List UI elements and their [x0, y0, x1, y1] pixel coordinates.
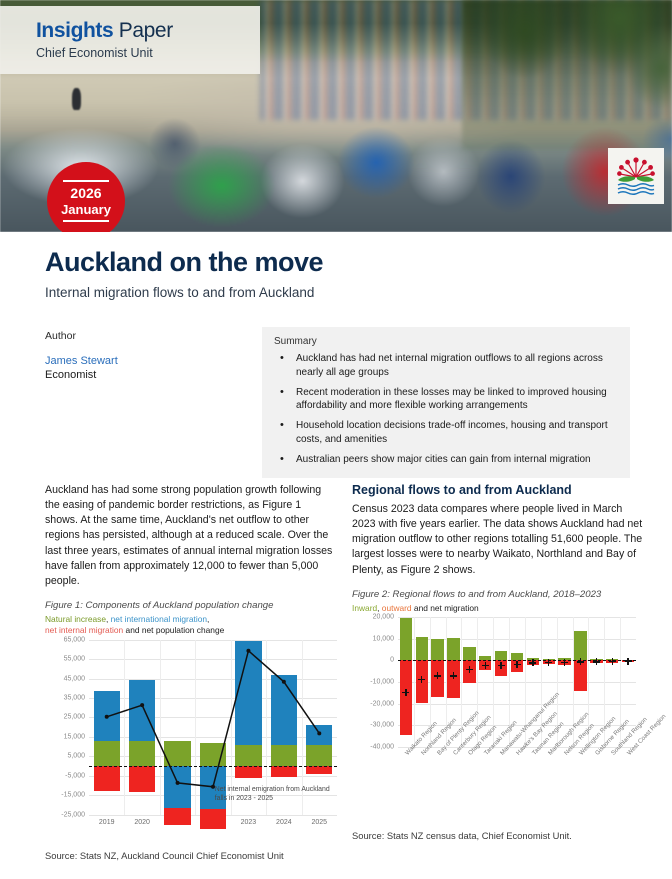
publication-title-light: Paper: [119, 19, 173, 42]
title-area: Auckland on the move Internal migration …: [45, 248, 323, 300]
publication-subtitle: Chief Economist Unit: [36, 46, 260, 60]
bar-segment: [574, 631, 586, 660]
bar-segment: [400, 618, 412, 660]
chart-annotation: Net internal emigration from Auckland fa…: [215, 785, 333, 804]
hero-runner-figure: [72, 88, 81, 110]
legend-net-international-migration: net international migration: [111, 614, 207, 624]
y-axis-tick: 5,000: [67, 753, 85, 760]
y-axis-tick: 20,000: [373, 614, 394, 621]
y-axis-tick: 45,000: [64, 675, 85, 682]
y-axis-tick: 65,000: [64, 636, 85, 643]
publication-banner: Insights Paper Chief Economist Unit: [0, 6, 260, 74]
y-axis-tick: 10,000: [373, 635, 394, 642]
x-axis-tick: 2020: [134, 819, 150, 826]
bar-segment: [431, 639, 443, 660]
hero-banner: Insights Paper Chief Economist Unit 2026…: [0, 0, 672, 232]
y-axis-tick: -40,000: [370, 744, 394, 751]
right-column: Regional flows to and from Auckland Cens…: [352, 483, 644, 841]
summary-box: Summary Auckland has had net internal mi…: [262, 327, 630, 478]
y-axis-tick: 35,000: [64, 695, 85, 702]
legend-inward: Inward: [352, 603, 377, 613]
bar-segment: [400, 660, 412, 735]
legend-net-migration: and net migration: [412, 603, 479, 613]
author-role: Economist: [45, 369, 118, 381]
list-item: Recent moderation in these losses may be…: [274, 386, 618, 414]
y-axis-tick: -25,000: [61, 811, 85, 818]
auckland-council-logo: [608, 148, 664, 204]
left-body-text: Auckland has had some strong population …: [45, 483, 337, 589]
page-title: Auckland on the move: [45, 248, 323, 278]
pohutukawa-logo-icon: [613, 153, 659, 199]
figure1-caption: Figure 1: Components of Auckland populat…: [45, 600, 337, 611]
badge-month: January: [61, 202, 111, 217]
hero-trees-detail: [462, 0, 672, 150]
bar-segment: [463, 647, 475, 661]
author-label: Author: [45, 330, 118, 342]
legend-outward: outward: [382, 603, 412, 613]
publication-title: Insights Paper: [36, 20, 260, 42]
badge-rule-bottom: [63, 220, 109, 222]
bar-segment: [416, 637, 428, 660]
figure1-source: Source: Stats NZ, Auckland Council Chief…: [45, 850, 337, 861]
list-item: Australian peers show major cities can g…: [274, 453, 618, 467]
page-subtitle: Internal migration flows to and from Auc…: [45, 285, 323, 300]
gridline: [398, 704, 636, 705]
section-heading: Regional flows to and from Auckland: [352, 483, 644, 497]
y-axis-tick: 15,000: [64, 733, 85, 740]
figure2-legend: Inward, outward and net migration: [352, 603, 644, 614]
x-axis-tick: 2024: [276, 819, 292, 826]
right-body-text: Census 2023 data compares where people l…: [352, 502, 644, 578]
legend-net-internal-migration: net internal migration: [45, 625, 123, 635]
y-axis-tick: 0: [390, 657, 394, 664]
author-name-link[interactable]: James Stewart: [45, 355, 118, 367]
gridline: [398, 617, 636, 618]
y-axis-tick: 55,000: [64, 656, 85, 663]
figure2-source: Source: Stats NZ census data, Chief Econ…: [352, 830, 644, 841]
y-axis-tick: -5,000: [65, 772, 85, 779]
author-block: Author James Stewart Economist: [45, 330, 118, 381]
publication-title-bold: Insights: [36, 19, 113, 42]
legend-sep: ,: [207, 614, 209, 624]
y-axis-tick: -10,000: [370, 679, 394, 686]
figure1-plot-area: 65,00055,00045,00035,00025,00015,0005,00…: [89, 640, 337, 815]
y-axis-tick: -20,000: [370, 700, 394, 707]
legend-natural-increase: Natural increase: [45, 614, 106, 624]
figure2-caption: Figure 2: Regional flows to and from Auc…: [352, 589, 644, 600]
x-axis-tick: 2023: [241, 819, 257, 826]
badge-rule-top: [63, 180, 109, 182]
bar-segment: [447, 638, 459, 660]
left-column: Auckland has had some strong population …: [45, 483, 337, 861]
x-axis-tick: 2025: [311, 819, 327, 826]
date-badge: 2026 January: [47, 162, 125, 232]
figure2-plot-area: 20,00010,0000-10,000-20,000-30,000-40,00…: [398, 617, 636, 747]
list-item: Auckland has had net internal migration …: [274, 352, 618, 380]
bar-segment: [495, 651, 507, 661]
summary-heading: Summary: [274, 336, 618, 347]
list-item: Household location decisions trade-off i…: [274, 419, 618, 447]
summary-list: Auckland has had net internal migration …: [274, 352, 618, 467]
legend-net-population-change: and net population change: [123, 625, 224, 635]
bar-segment: [511, 653, 523, 660]
y-axis-tick: 25,000: [64, 714, 85, 721]
figure2-chart: 20,00010,0000-10,000-20,000-30,000-40,00…: [352, 617, 644, 825]
y-axis-tick: -30,000: [370, 722, 394, 729]
y-axis-tick: -15,000: [61, 792, 85, 799]
x-axis-tick: 2019: [99, 819, 115, 826]
figure1-chart: 65,00055,00045,00035,00025,00015,0005,00…: [45, 640, 337, 845]
badge-year: 2026: [70, 185, 101, 201]
figure1-legend: Natural increase, net international migr…: [45, 614, 337, 637]
